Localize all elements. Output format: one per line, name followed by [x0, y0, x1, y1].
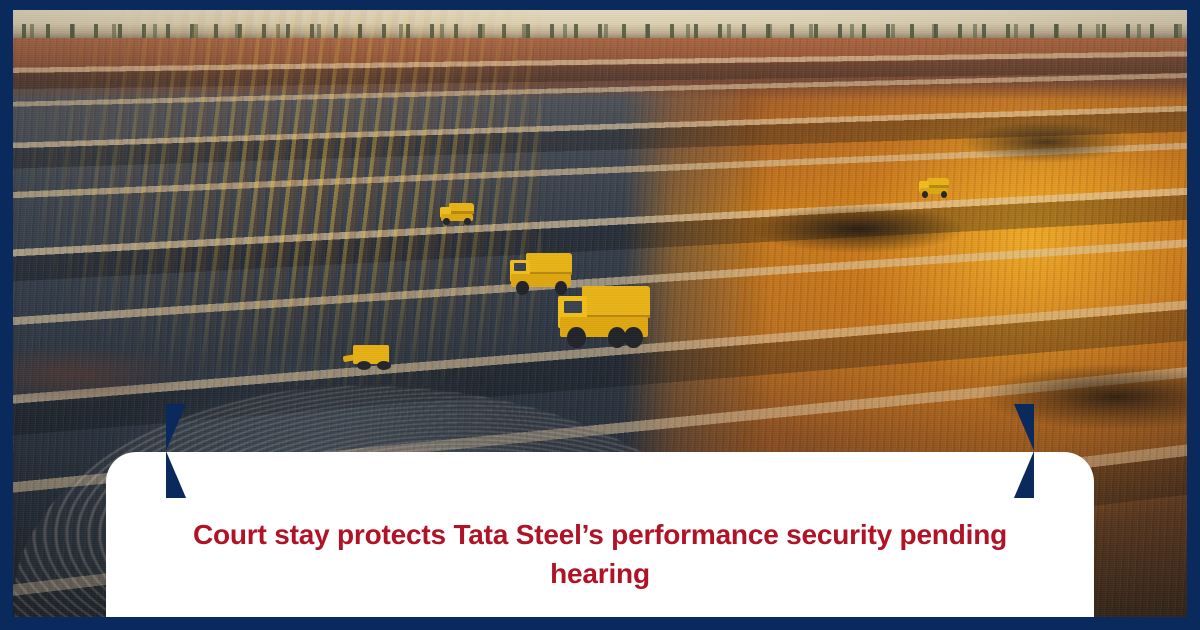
subtitle-container: Court stay protects Tata Steel’s perform… — [140, 516, 1060, 593]
bottom-accent-bar — [0, 617, 1200, 630]
news-graphic-card: Sukinda Mining Dispute Update Court stay… — [0, 0, 1200, 630]
subtitle-text: Court stay protects Tata Steel’s perform… — [140, 516, 1060, 593]
